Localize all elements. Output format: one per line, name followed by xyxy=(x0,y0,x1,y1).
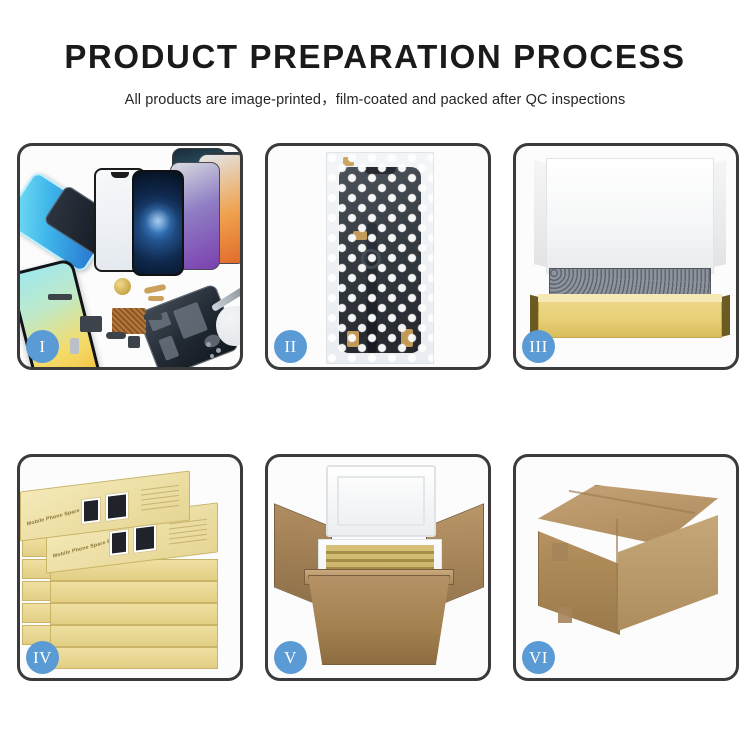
box-swatch-2a xyxy=(109,528,129,556)
product-preparation-infographic: PRODUCT PREPARATION PROCESS All products… xyxy=(0,0,750,750)
bubble-wrap-package xyxy=(326,152,434,364)
charging-port-flex xyxy=(144,314,162,320)
speaker-module xyxy=(48,294,72,300)
header: PRODUCT PREPARATION PROCESS All products… xyxy=(0,0,750,128)
camera-bracket xyxy=(80,316,102,332)
step-badge-4: IV xyxy=(26,641,59,674)
step-panel-6: VI xyxy=(513,454,739,681)
tape-strip-lower xyxy=(558,607,572,623)
step-badge-6: VI xyxy=(522,641,555,674)
page-title: PRODUCT PREPARATION PROCESS xyxy=(64,40,685,73)
box-base-edge xyxy=(538,294,722,302)
step-badge-5: V xyxy=(274,641,307,674)
screw-1 xyxy=(206,342,211,347)
flex-cable-2 xyxy=(148,296,164,301)
screw-2 xyxy=(216,348,221,353)
step-panel-3: III xyxy=(513,143,739,370)
stacked-box-r5 xyxy=(50,647,218,669)
step-badge-2: II xyxy=(274,330,307,363)
carton-corner-seam xyxy=(616,519,618,629)
step-panel-1: I xyxy=(17,143,243,370)
process-steps-grid: I II xyxy=(17,143,733,681)
box-spec-line-1e xyxy=(141,505,179,511)
box-white-lid xyxy=(546,158,714,274)
flex-cable-1 xyxy=(144,284,167,294)
carton-body xyxy=(308,575,450,665)
carton-left-face xyxy=(538,531,620,635)
bubble-texture xyxy=(327,153,433,363)
sim-tray xyxy=(70,338,79,354)
stacked-box-r2 xyxy=(50,581,218,603)
box-swatch-1b xyxy=(105,491,129,522)
vibration-motor xyxy=(114,278,131,295)
copper-shield-plate xyxy=(112,308,146,334)
stacked-box-r4 xyxy=(50,625,218,647)
box-swatch-2b xyxy=(133,523,157,554)
screw-3 xyxy=(210,354,214,358)
battery-connector xyxy=(128,336,140,348)
foam-lid-open xyxy=(326,465,436,537)
step-panel-2: II xyxy=(265,143,491,370)
antenna-cable xyxy=(106,332,126,339)
step-panel-5: V xyxy=(265,454,491,681)
phone-dark-wallpaper xyxy=(132,170,184,276)
tape-strip-upper xyxy=(552,543,568,561)
box-spec-line-2e xyxy=(169,539,207,545)
grey-foam-padding xyxy=(549,268,711,296)
page-subtitle: All products are image-printed，film-coat… xyxy=(125,88,626,109)
stacked-box-r3 xyxy=(50,603,218,625)
step-panel-4: Mobile Phone Spare Parts Mobile Phone Sp… xyxy=(17,454,243,681)
box-swatch-1a xyxy=(81,496,101,524)
step-badge-1: I xyxy=(26,330,59,363)
step-badge-3: III xyxy=(522,330,555,363)
